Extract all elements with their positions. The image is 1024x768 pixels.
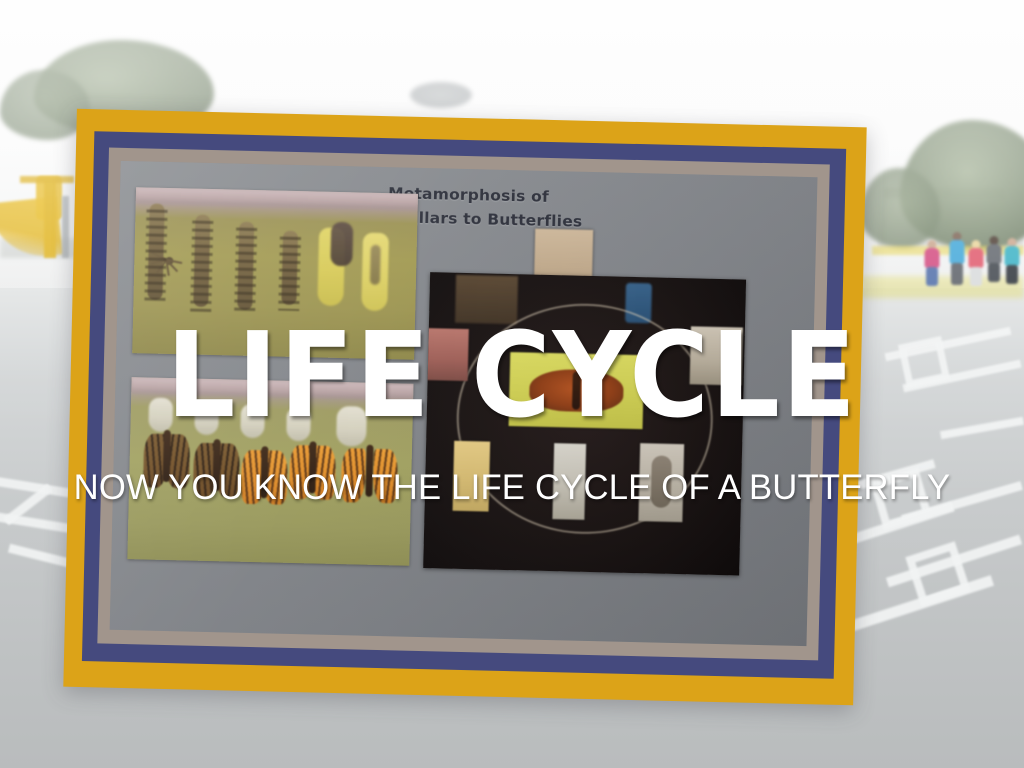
child-figure (966, 240, 986, 290)
slide-title: LIFE CYCLE (41, 316, 983, 434)
distant-object-sky (410, 82, 472, 108)
child-figure (946, 232, 968, 288)
playground-slide-leg (62, 196, 69, 258)
caterpillar (281, 231, 298, 305)
slide-subtitle: NOW YOU KNOW THE LIFE CYCLE OF A BUTTERF… (5, 470, 1019, 505)
playground-slide-post (44, 180, 56, 258)
playground-slide-bar (20, 176, 74, 183)
chrysalis-dark (370, 245, 381, 285)
child-figure (1002, 238, 1022, 290)
slide-canvas: Metamorphosis of Caterpillars to Butterf… (0, 0, 1024, 768)
child-figure (922, 240, 942, 288)
caterpillar (193, 215, 210, 307)
caterpillar (147, 204, 164, 300)
chrysalis-dark (330, 222, 353, 267)
caterpillar (237, 222, 254, 310)
child-figure (984, 236, 1004, 288)
